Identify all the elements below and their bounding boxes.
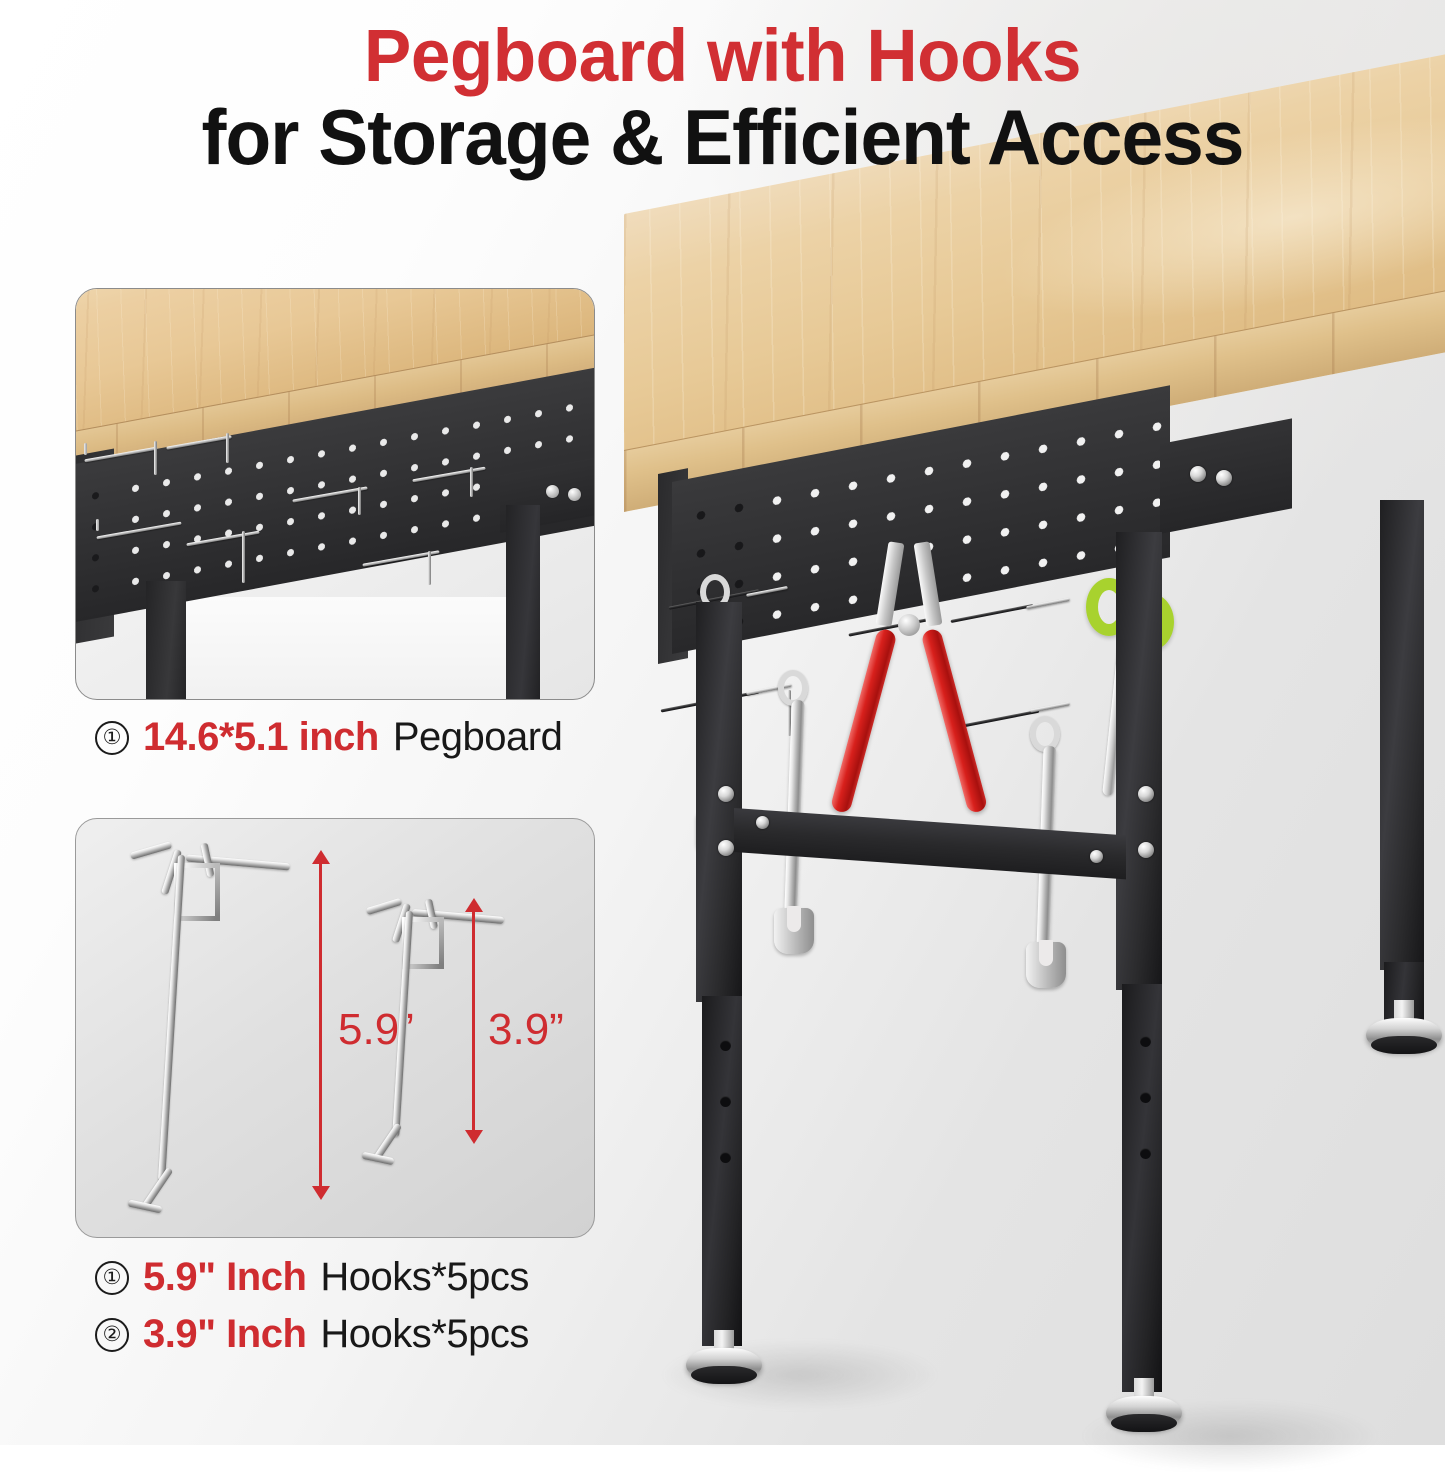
dimension-label-3-9: 3.9”	[488, 1005, 564, 1055]
leg-bolt	[718, 786, 734, 802]
caption-label: Hooks*5pcs	[320, 1255, 528, 1300]
caption-label: Pegboard	[393, 715, 562, 760]
inset-leg-right	[506, 505, 540, 700]
peg-hook	[950, 604, 1033, 623]
dimension-arrow-3-9	[472, 911, 475, 1131]
hook-shaft	[154, 441, 157, 475]
inset-leg-left	[146, 581, 186, 700]
crossbar-bolt	[1090, 850, 1103, 863]
leg-far-right-upper	[1380, 500, 1424, 970]
product-scene-workbench	[560, 150, 1445, 1445]
panel-pegboard-closeup	[75, 288, 595, 700]
inset-floor	[186, 597, 516, 700]
frame-bolt	[1190, 466, 1206, 482]
caption-hook-3-9: ② 3.9" Inch Hooks*5pcs	[95, 1312, 529, 1357]
hook-tip	[84, 443, 87, 455]
hook-shaft	[242, 531, 245, 583]
leg-front-left-upper	[696, 602, 742, 1002]
caption-marker: ①	[95, 1261, 129, 1295]
inset-frame-bolt	[546, 485, 559, 498]
leveling-foot	[1366, 1000, 1442, 1058]
caption-hook-5-9: ① 5.9" Inch Hooks*5pcs	[95, 1255, 529, 1300]
leg-rear-right-upper	[1116, 532, 1162, 990]
leveling-foot	[1106, 1378, 1182, 1436]
frame-bolt	[1216, 470, 1232, 486]
caption-marker: ①	[95, 721, 129, 755]
leveling-foot	[686, 1330, 762, 1388]
leg-adjust-hole	[1140, 1092, 1151, 1103]
panel-hooks-detail: 5.9” 3.9”	[75, 818, 595, 1238]
wrench-open-end	[1026, 942, 1066, 988]
inset-frame-bolt	[568, 488, 581, 501]
page-title-secondary: for Storage & Efficient Access	[29, 97, 1416, 178]
caption-marker: ②	[95, 1318, 129, 1352]
hook-shaft	[226, 433, 229, 463]
leg-adjust-hole	[1140, 1148, 1151, 1159]
hook-tip	[96, 519, 99, 531]
hook-shaft	[470, 467, 473, 497]
header: Pegboard with Hooks for Storage & Effici…	[0, 18, 1445, 179]
caption-pegboard: ① 14.6*5.1 inch Pegboard	[95, 715, 562, 760]
hook-top-tip	[366, 898, 402, 915]
foot-pad	[1371, 1036, 1438, 1054]
leg-adjust-hole	[720, 1152, 731, 1163]
hook-shaft	[158, 855, 185, 1181]
leg-adjust-hole	[1140, 1036, 1151, 1047]
hook-5-9-inch	[130, 835, 310, 1215]
dimension-arrow-5-9	[319, 863, 322, 1187]
leg-bolt	[718, 840, 734, 856]
caption-label: Hooks*5pcs	[320, 1312, 528, 1357]
caption-dimension: 5.9" Inch	[143, 1255, 306, 1300]
hook-top-tip	[130, 841, 172, 859]
hook-shaft	[358, 487, 361, 515]
wrench-open-end	[774, 908, 814, 954]
leg-bolt	[1138, 786, 1154, 802]
crossbar-bolt	[756, 816, 769, 829]
foot-pad	[691, 1366, 758, 1384]
foot-pad	[1111, 1414, 1178, 1432]
leg-bolt	[1138, 842, 1154, 858]
peg-hook	[1030, 702, 1070, 713]
caption-dimension: 3.9" Inch	[143, 1312, 306, 1357]
caption-dimension: 14.6*5.1 inch	[143, 715, 379, 760]
hook-shaft	[428, 551, 431, 585]
plier-handle-left	[830, 627, 898, 814]
plier-pivot	[898, 614, 920, 636]
leg-adjust-hole	[720, 1096, 731, 1107]
page-title-primary: Pegboard with Hooks	[29, 18, 1416, 93]
leg-adjust-hole	[720, 1040, 731, 1051]
